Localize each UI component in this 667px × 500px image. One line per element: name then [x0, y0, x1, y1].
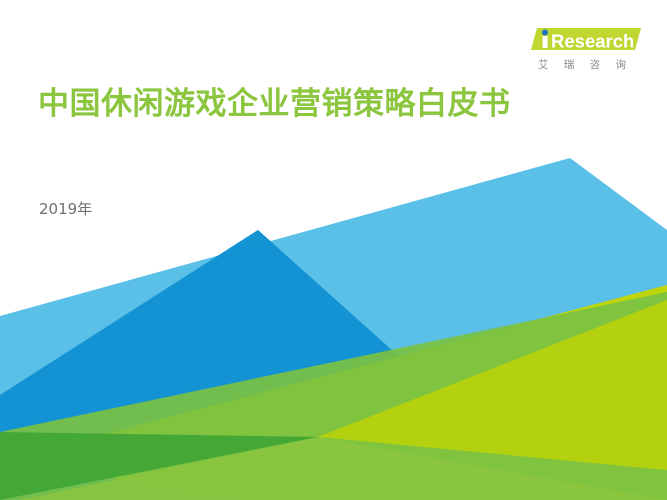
- title-slide: Research 艾 瑞 咨 询 中国休闲游戏企业营销策略白皮书 2019年: [0, 0, 667, 500]
- logo-wordmark-badge: Research: [523, 24, 641, 53]
- page-subtitle-year: 2019年: [39, 199, 92, 219]
- iresearch-logo: Research 艾 瑞 咨 询: [523, 24, 641, 72]
- page-title: 中国休闲游戏企业营销策略白皮书: [38, 84, 528, 125]
- logo-i-dot-icon: [542, 30, 548, 36]
- logo-i-stem-icon: [543, 36, 548, 48]
- logo-chinese-name: 艾 瑞 咨 询: [523, 59, 641, 72]
- logo-badge-icon: Research: [523, 24, 641, 53]
- background-artwork: [0, 0, 667, 500]
- logo-wordmark-text: Research: [551, 31, 634, 52]
